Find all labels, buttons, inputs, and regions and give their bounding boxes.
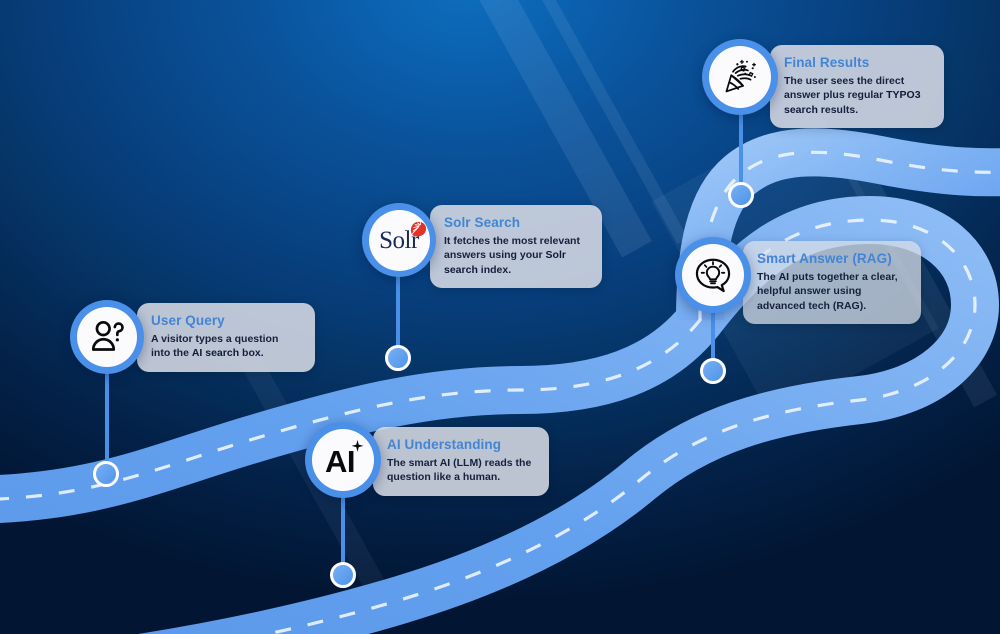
step-card-user-query[interactable]: User Query A visitor types a question in…: [137, 303, 315, 372]
step-title-ai-understanding: AI Understanding: [387, 437, 535, 454]
step-desc-ai-understanding: The smart AI (LLM) reads the question li…: [387, 456, 535, 485]
solr-sunburst-icon: [409, 220, 428, 239]
step-icon-bubble-user-query[interactable]: [70, 300, 144, 374]
connector-stem-final-results: [739, 110, 743, 190]
desc-line-2: helpful answer using: [757, 285, 861, 297]
step-title-solr-search: Solr Search: [444, 215, 588, 232]
road-marker-solr-search[interactable]: [385, 345, 411, 371]
desc-line-2-bold: AI search: [192, 347, 239, 359]
step-card-ai-understanding[interactable]: AI Understanding The smart AI (LLM) read…: [373, 427, 549, 496]
step-title-smart-answer-rag: Smart Answer (RAG): [757, 251, 907, 268]
step-icon-bubble-solr-search[interactable]: Solr: [362, 203, 436, 277]
icon-inner-circle: [709, 46, 771, 108]
step-desc-user-query: A visitor types a question into the AI s…: [151, 332, 301, 361]
icon-inner-circle: [682, 244, 744, 306]
desc-line-2-bold: TYPO3: [886, 89, 920, 101]
step-icon-bubble-ai-understanding[interactable]: AI: [305, 422, 381, 498]
step-desc-solr-search: It fetches the most relevant answers usi…: [444, 234, 588, 277]
desc-line-1: It fetches the most relevant: [444, 235, 580, 247]
desc-line-1: The user sees the direct: [784, 75, 904, 87]
step-icon-bubble-smart-answer-rag[interactable]: [675, 237, 751, 313]
road-marker-smart-answer-rag[interactable]: [700, 358, 726, 384]
desc-line-3-post: index.: [478, 264, 511, 276]
step-icon-bubble-final-results[interactable]: [702, 39, 778, 115]
step-card-smart-answer-rag[interactable]: Smart Answer (RAG) The AI puts together …: [743, 241, 921, 324]
icon-inner-circle: Solr: [369, 210, 430, 271]
person-question-icon: [87, 317, 127, 357]
icon-inner-circle: AI: [312, 429, 374, 491]
step-desc-final-results: The user sees the direct answer plus reg…: [784, 74, 930, 117]
infographic-canvas: User Query A visitor types a question in…: [0, 0, 1000, 634]
sparkle-icon: [350, 439, 365, 454]
desc-line-2-pre: into the: [151, 347, 192, 359]
desc-line-3-bold: search: [784, 104, 818, 116]
desc-line-2-pre: answers using your: [444, 249, 546, 261]
desc-line-1: A visitor types a question: [151, 333, 278, 345]
step-title-final-results: Final Results: [784, 55, 930, 72]
step-card-final-results[interactable]: Final Results The user sees the direct a…: [770, 45, 944, 128]
party-popper-confetti-icon: [719, 56, 761, 98]
step-title-user-query: User Query: [151, 313, 301, 330]
icon-inner-circle: [77, 307, 137, 367]
road-marker-user-query[interactable]: [93, 461, 119, 487]
desc-line-2: question like a human.: [387, 471, 500, 483]
road-marker-final-results[interactable]: [728, 182, 754, 208]
step-desc-smart-answer-rag: The AI puts together a clear, helpful an…: [757, 270, 907, 313]
desc-line-3: advanced tech (RAG).: [757, 300, 866, 312]
desc-line-1-bold: AI: [779, 271, 790, 283]
desc-line-2-post: box.: [239, 347, 264, 359]
desc-line-3-bold: search: [444, 264, 478, 276]
desc-line-1-pre: The: [757, 271, 779, 283]
desc-line-1: The smart AI (LLM) reads the: [387, 457, 531, 469]
solr-logo-icon: Solr: [379, 228, 419, 253]
desc-line-3-post: results.: [818, 104, 858, 116]
desc-line-2-bold: Solr: [546, 249, 566, 261]
lightbulb-speech-bubble-icon: [691, 253, 735, 297]
step-card-solr-search[interactable]: Solr Search It fetches the most relevant…: [430, 205, 602, 288]
desc-line-1-post: puts together a clear,: [789, 271, 898, 283]
desc-line-2-pre: answer plus regular: [784, 89, 886, 101]
road-marker-ai-understanding[interactable]: [330, 562, 356, 588]
